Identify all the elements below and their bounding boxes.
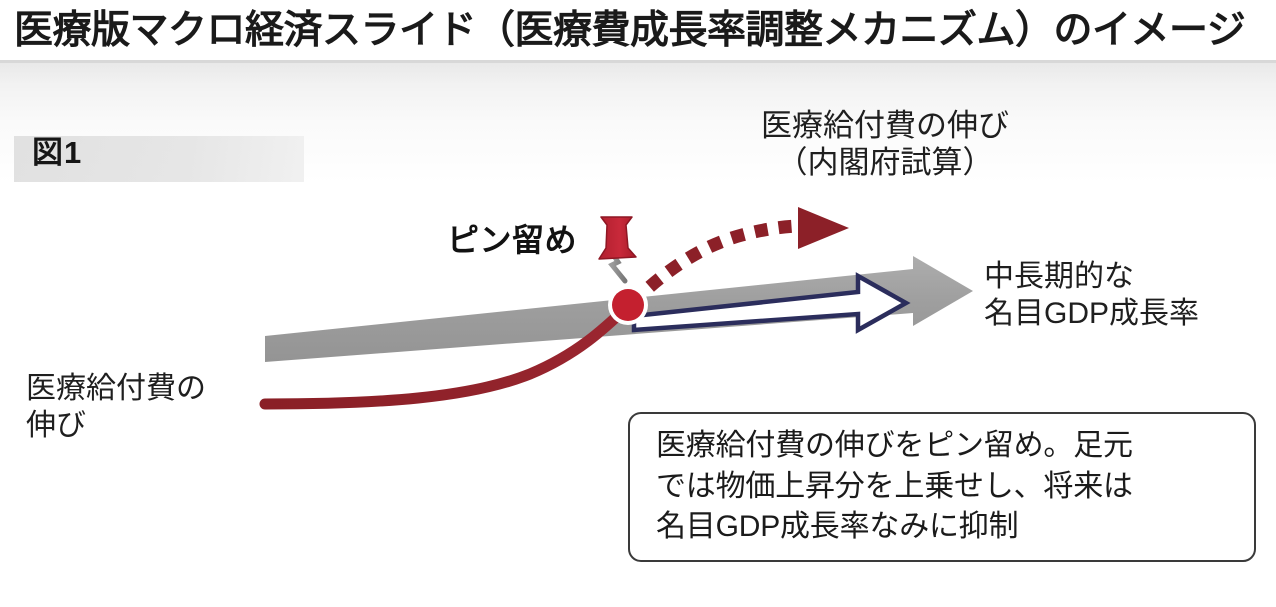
page-title: 医療版マクロ経済スライド（医療費成長率調整メカニズム）のイメージ [14, 2, 1272, 58]
label-medical-growth: 医療給付費の 伸び [26, 370, 206, 444]
figure-number-label: 図1 [32, 137, 82, 168]
figure-page: 医療版マクロ経済スライド（医療費成長率調整メカニズム）のイメージ 図1 [0, 0, 1276, 607]
callout-body-text: 医療給付費の伸びをピン留め。足元 では物価上昇分を上乗せし、将来は 名目GDP成… [656, 426, 1238, 548]
label-nominal-gdp: 中長期的な 名目GDP成長率 [984, 258, 1199, 332]
callout-box: 医療給付費の伸びをピン留め。足元 では物価上昇分を上乗せし、将来は 名目GDP成… [628, 412, 1256, 562]
label-cabinet-projection: 医療給付費の伸び （内閣府試算） [730, 108, 1040, 181]
label-pin: ピン留め [447, 222, 577, 260]
